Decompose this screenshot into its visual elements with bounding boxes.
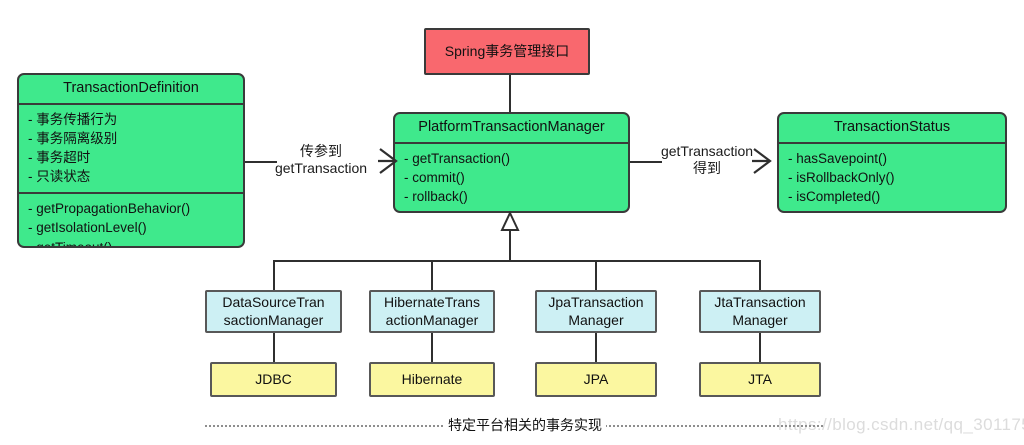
inheritance-bus [273,260,760,262]
impl-box-jpa[interactable]: JpaTransaction Manager [535,290,657,333]
impl-label-line-2: sactionManager [222,312,324,330]
impl-label-line-1: JpaTransaction [548,294,643,312]
inheritance-leg-jpa [595,260,597,290]
platform-box-jta[interactable]: JTA [699,362,821,397]
attribute-item: - 只读状态 [19,167,243,186]
inheritance-leg-datasource [273,260,275,290]
connector-jpa-to-jpa-platform [595,333,597,363]
inheritance-triangle-icon [500,212,520,232]
impl-label-line-2: Manager [714,312,805,330]
class-title-transaction-status: TransactionStatus [779,114,1005,142]
impl-label-line-1: HibernateTrans [384,294,480,312]
method-item: - isCompleted() [779,187,1005,206]
class-title-transaction-definition: TransactionDefinition [19,75,243,103]
connector-hibernate-to-hibernate-platform [431,333,433,363]
method-item: - rollback() [395,187,628,206]
attribute-item: - 事务超时 [19,148,243,167]
inheritance-leg-hibernate [431,260,433,290]
platform-box-jdbc[interactable]: JDBC [210,362,337,397]
spring-transaction-title-box[interactable]: Spring事务管理接口 [424,28,590,75]
method-item: - getTransaction() [395,149,628,168]
impl-box-datasource[interactable]: DataSourceTran sactionManager [205,290,342,333]
impl-label-line-2: actionManager [384,312,480,330]
footer-caption: 特定平台相关的事务实现 [444,415,606,435]
attributes-compartment: - 事务传播行为 - 事务隔离级别 - 事务超时 - 只读状态 [19,105,243,193]
edge-label-manager-to-status: getTransaction 得到 [646,143,768,178]
class-title-platform-transaction-manager: PlatformTransactionManager [395,114,628,142]
edge-label-definition-to-manager: 传参到 getTransaction [260,143,382,178]
inheritance-leg-jta [759,260,761,290]
method-item: - commit() [395,168,628,187]
connector-datasource-to-jdbc [273,333,275,363]
edge-label-line-1: 传参到 [260,143,382,160]
diagram-canvas: https://blog.csdn.net/qq_30117591 Spring… [0,0,1024,445]
edge-label-line-2: 得到 [646,160,768,177]
method-item: - getTimeout() [19,238,243,248]
attribute-item: - 事务隔离级别 [19,129,243,148]
method-item: - hasSavepoint() [779,149,1005,168]
inheritance-stem [509,229,511,261]
impl-label-line-1: JtaTransaction [714,294,805,312]
impl-label-line-1: DataSourceTran [222,294,324,312]
platform-box-hibernate[interactable]: Hibernate [369,362,495,397]
methods-compartment: - hasSavepoint() - isRollbackOnly() - is… [779,144,1005,212]
arrowhead-manager-to-status [752,147,778,175]
connector-title-to-manager [509,74,511,113]
method-item: - getPropagationBehavior() [19,199,243,218]
methods-compartment: - getTransaction() - commit() - rollback… [395,144,628,212]
class-box-transaction-definition[interactable]: TransactionDefinition - 事务传播行为 - 事务隔离级别 … [17,73,245,248]
methods-compartment: - getPropagationBehavior() - getIsolatio… [19,194,243,248]
class-box-platform-transaction-manager[interactable]: PlatformTransactionManager - getTransact… [393,112,630,213]
connector-jta-to-jta-platform [759,333,761,363]
impl-box-hibernate[interactable]: HibernateTrans actionManager [369,290,495,333]
attribute-item: - 事务传播行为 [19,110,243,129]
platform-box-jpa[interactable]: JPA [535,362,657,397]
impl-label-line-2: Manager [548,312,643,330]
impl-box-jta[interactable]: JtaTransaction Manager [699,290,821,333]
method-item: - isRollbackOnly() [779,168,1005,187]
edge-label-line-1: getTransaction [646,143,768,160]
method-item: - getIsolationLevel() [19,218,243,237]
edge-label-line-2: getTransaction [260,160,382,177]
class-box-transaction-status[interactable]: TransactionStatus - hasSavepoint() - isR… [777,112,1007,213]
arrowhead-definition-to-manager [378,147,404,175]
